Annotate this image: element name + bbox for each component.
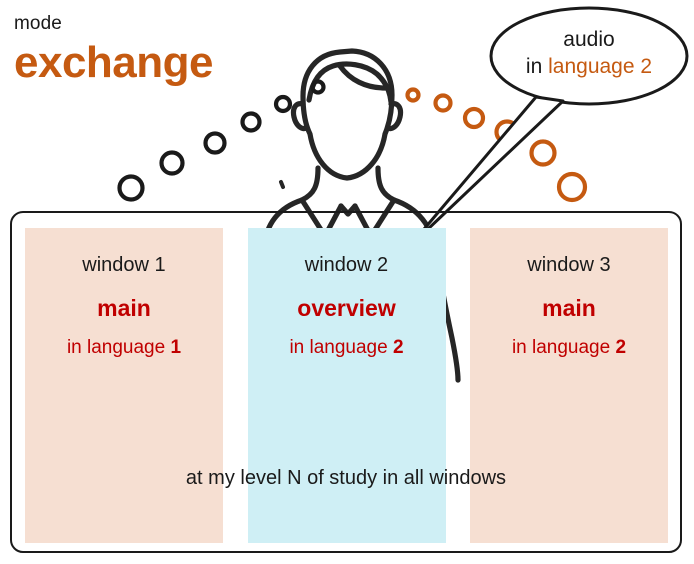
window-1-language: in language 1 [25, 338, 223, 357]
window-1-language-prefix: in language [67, 337, 165, 358]
orange-audio-bubbles-icon [408, 90, 586, 201]
level-note: at my level N of study in all windows [10, 468, 682, 488]
window-1-mode: main [25, 297, 223, 320]
speech-bubble-text: audio in language 2 [496, 26, 682, 81]
black-audio-bubbles-icon [120, 82, 324, 200]
bubble-line-language: in language 2 [496, 53, 682, 80]
diagram-canvas: mode exchange [0, 0, 694, 564]
window-3-mode: main [470, 297, 668, 320]
mode-label: mode [14, 13, 62, 35]
window-2-language: in language 2 [248, 338, 446, 357]
window-1-language-number: 1 [170, 337, 181, 358]
window-3-title: window 3 [470, 255, 668, 275]
window-3-language: in language 2 [470, 338, 668, 357]
windows-columns: window 1 main in language 1 window 2 ove… [25, 228, 668, 543]
window-3-language-prefix: in language [512, 337, 610, 358]
bubble-line2-highlight: language 2 [548, 55, 652, 78]
window-column-3[interactable]: window 3 main in language 2 [470, 228, 668, 543]
window-2-language-number: 2 [393, 337, 404, 358]
window-3-language-number: 2 [615, 337, 626, 358]
window-column-2[interactable]: window 2 overview in language 2 [248, 228, 446, 543]
window-2-language-prefix: in language [289, 337, 387, 358]
window-2-title: window 2 [248, 255, 446, 275]
window-column-1[interactable]: window 1 main in language 1 [25, 228, 223, 543]
mode-value: exchange [14, 41, 213, 85]
window-2-mode: overview [248, 297, 446, 320]
bubble-line2-prefix: in [526, 55, 542, 78]
bubble-line-audio: audio [496, 26, 682, 53]
window-1-title: window 1 [25, 255, 223, 275]
